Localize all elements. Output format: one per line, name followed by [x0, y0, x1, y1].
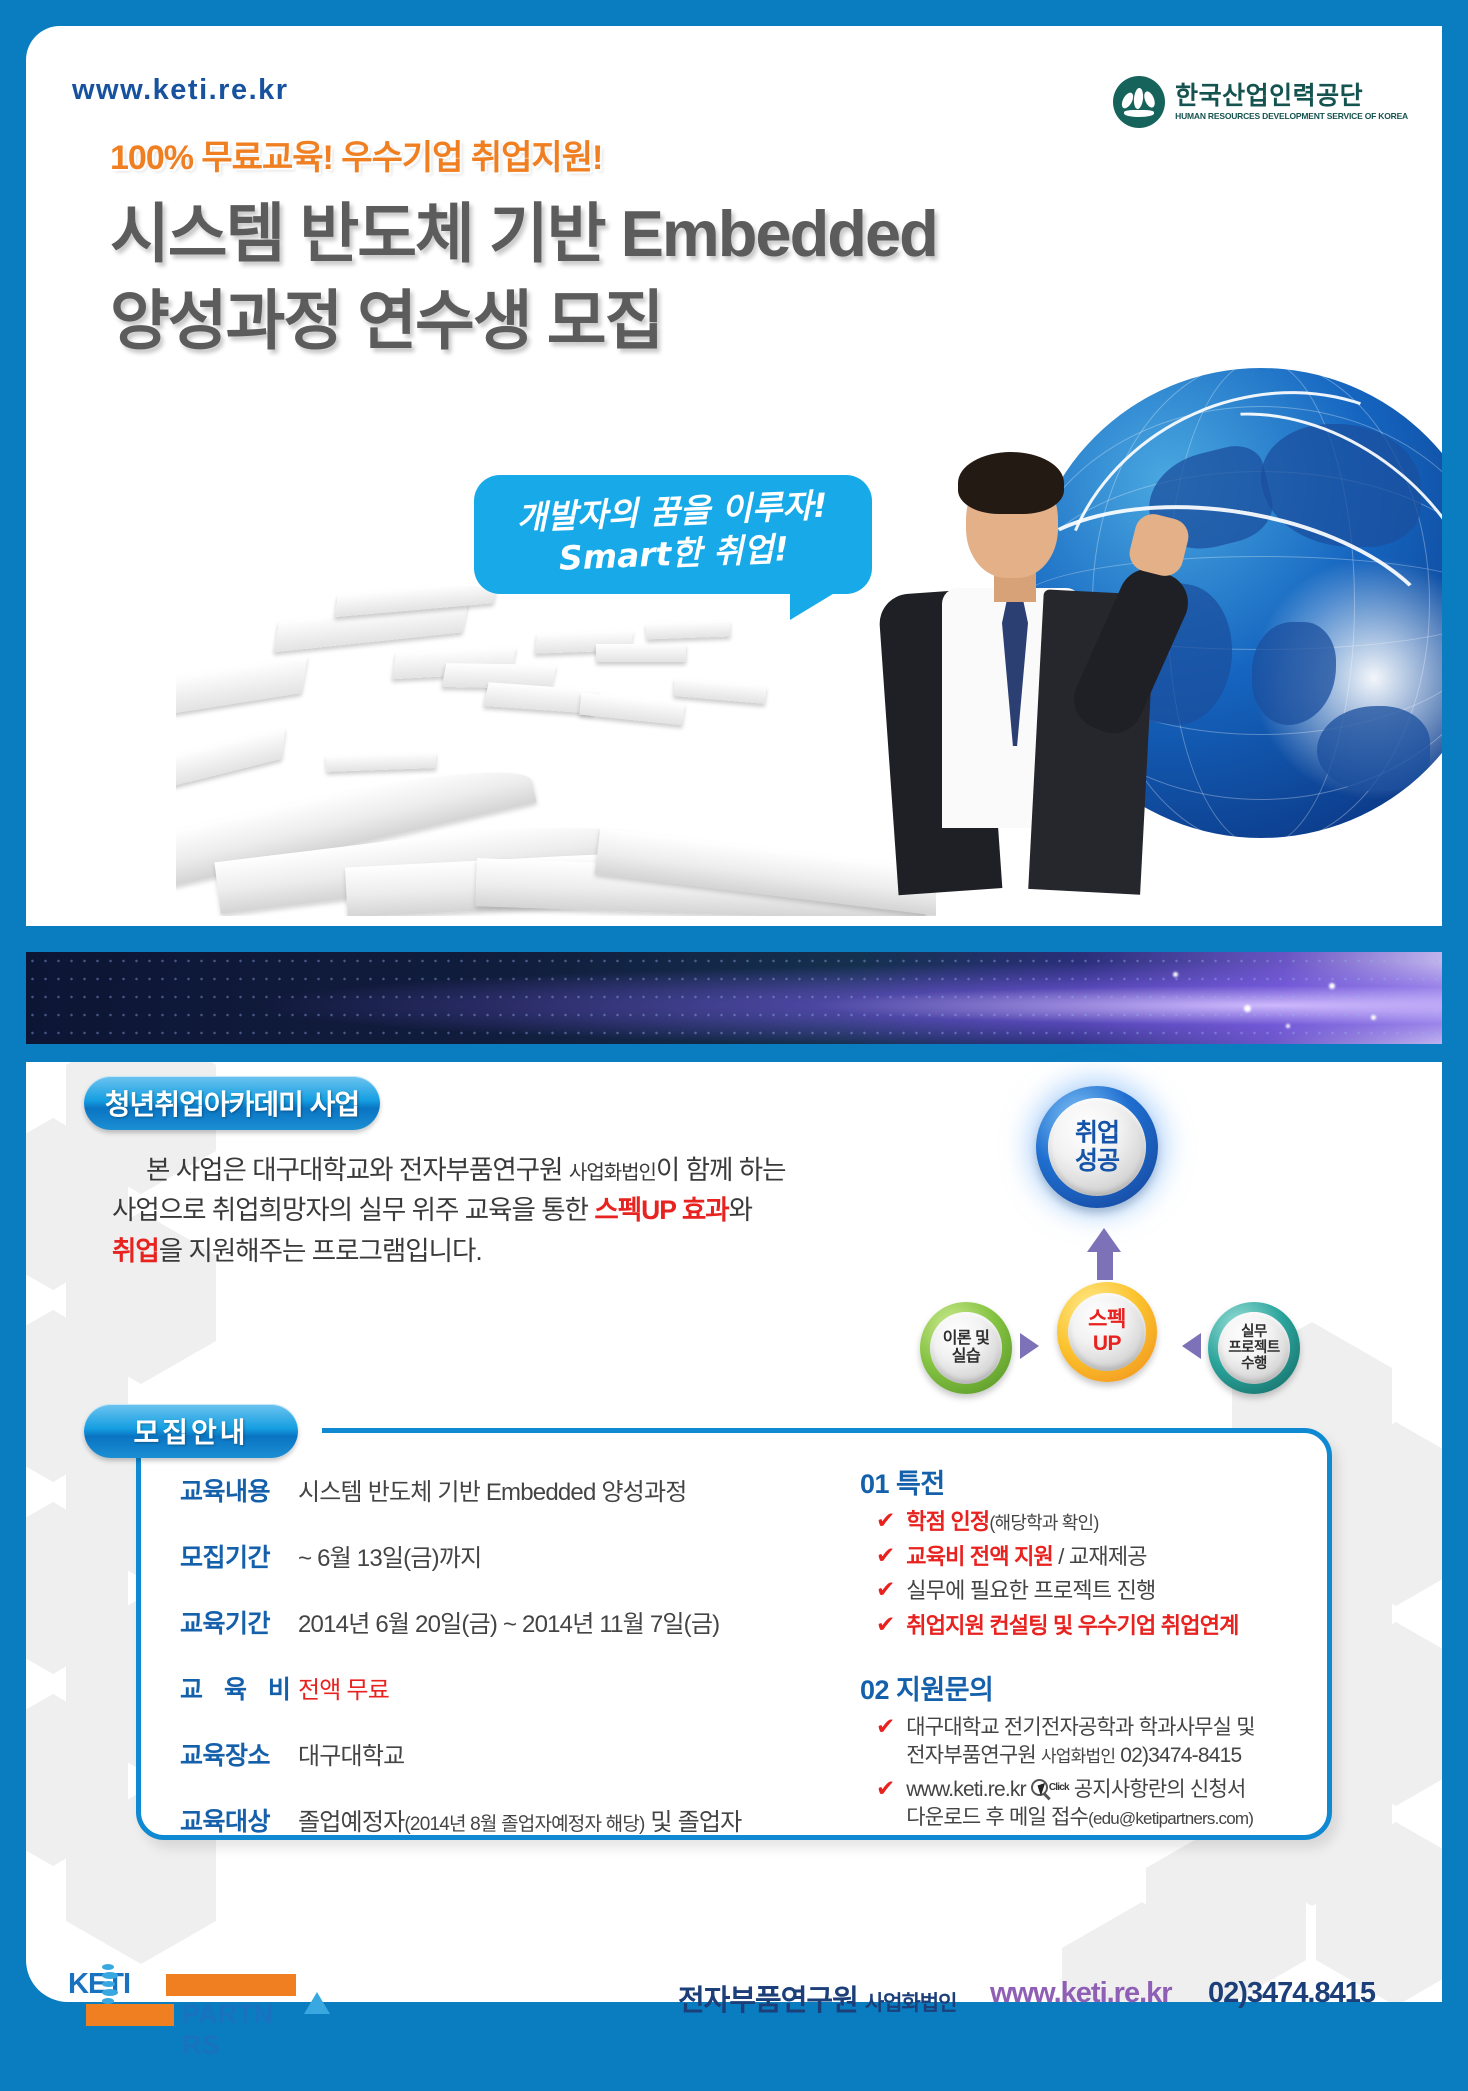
- table-row: 교육대상 졸업예정자(2014년 8월 졸업자예정자 해당) 및 졸업자: [180, 1802, 800, 1838]
- table-row: 교육기간 2014년 6월 20일(금) ~ 2014년 11월 7일(금): [180, 1604, 800, 1640]
- footer-institute: 전자부품연구원 사업화법인: [678, 1977, 956, 2019]
- inquiry-heading: 02 지원문의: [860, 1668, 1320, 1707]
- intro-l2b: 스펙UP 효과: [594, 1195, 728, 1225]
- footer-institute-name: 전자부품연구원: [678, 1985, 865, 2017]
- list-item: ✔ 학점 인정(해당학과 확인): [860, 1508, 1320, 1537]
- list-item: ✔ 대구대학교 전기전자공학과 학과사무실 및 전자부품연구원 사업화법인 02…: [860, 1714, 1320, 1769]
- check-icon: ✔: [876, 1577, 895, 1601]
- inquiry-notice: 공지사항란의 신청서: [1074, 1778, 1246, 1801]
- row-label: 교 육 비: [180, 1670, 298, 1706]
- list-item: ✔ 실무에 필요한 프로젝트 진행: [860, 1577, 1320, 1606]
- benefit-red: 교육비 전액 지원: [906, 1544, 1053, 1569]
- hero-title-line2: 양성과정 연수생 모집: [110, 268, 662, 362]
- arrow-up-icon: [1087, 1228, 1121, 1252]
- inquiry-download: 다운로드 후 메일 접수: [906, 1806, 1088, 1829]
- row-value-main: 졸업예정자: [298, 1809, 404, 1836]
- logo-keti-text: KETI: [68, 1968, 130, 2001]
- click-cursor-icon: Click: [1031, 1779, 1069, 1796]
- inquiry-url[interactable]: www.keti.re.kr: [906, 1778, 1026, 1801]
- hero-card: www.keti.re.kr 한국산업인력공단 HUMAN RESOURCES …: [26, 26, 1442, 926]
- orb-field-project: 실무 프로젝트 수행: [1208, 1302, 1300, 1394]
- benefit-gray: / 교재제공: [1053, 1544, 1147, 1569]
- orb-success-line2: 성공: [1075, 1147, 1119, 1175]
- list-item: ✔ 취업지원 컨설팅 및 우수기업 취업연계: [860, 1612, 1320, 1641]
- arrow-right-icon: [1020, 1333, 1039, 1359]
- arrow-left-icon: [1182, 1333, 1201, 1359]
- table-row: 모집기간 ~ 6월 13일(금)까지: [180, 1538, 800, 1574]
- hrd-logo-korean: 한국산업인력공단: [1175, 84, 1408, 109]
- table-row: 교 육 비 전액 무료: [180, 1670, 800, 1706]
- intro-l1c: 이 함께 하는: [656, 1155, 786, 1185]
- logo-partners-text: PARTN RS: [182, 1999, 298, 2061]
- table-row: 교육내용 시스템 반도체 기반 Embedded 양성과정: [180, 1472, 800, 1508]
- orb-spec-line1: 스펙: [1088, 1308, 1126, 1332]
- benefits-and-inquiry-column: 01 특전 ✔ 학점 인정(해당학과 확인) ✔ 교육비 전액 지원 / 교재제…: [860, 1462, 1320, 1837]
- row-value: 대구대학교: [298, 1736, 404, 1771]
- orb-theory-practice: 이론 및 실습: [920, 1302, 1012, 1394]
- check-icon: ✔: [876, 1508, 895, 1532]
- orb-spec-up: 스펙 UP: [1057, 1282, 1157, 1382]
- intro-l1b: 사업화법인: [569, 1162, 656, 1184]
- check-icon: ✔: [876, 1543, 895, 1567]
- intro-l1a: 본 사업은 대구대학교와 전자부품연구원: [146, 1155, 569, 1185]
- arrow-up-stem: [1097, 1250, 1113, 1280]
- logo-dot-stack-icon: [102, 1964, 120, 2004]
- hero-kicker: 100% 무료교육! 우수기업 취업지원!: [110, 130, 602, 179]
- arrow-paths-graphic: [176, 586, 936, 916]
- benefit-text: 학점 인정(해당학과 확인): [906, 1508, 1098, 1537]
- hero-title-line1: 시스템 반도체 기반 Embedded: [110, 181, 937, 275]
- row-value: 시스템 반도체 기반 Embedded 양성과정: [298, 1472, 687, 1507]
- orb-success-line1: 취업: [1075, 1119, 1119, 1147]
- orb-project-line2: 프로젝트: [1228, 1340, 1279, 1356]
- row-label: 교육내용: [180, 1472, 298, 1508]
- row-value: 2014년 6월 20일(금) ~ 2014년 11월 7일(금): [298, 1604, 719, 1639]
- intro-l2c: 와: [729, 1195, 752, 1225]
- orb-career-success: 취업 성공: [1036, 1086, 1158, 1208]
- benefit-small: (해당학과 확인): [989, 1513, 1098, 1533]
- academy-intro-text: 본 사업은 대구대학교와 전자부품연구원 사업화법인이 함께 하는 사업으로 취…: [112, 1150, 852, 1271]
- banner-dot-texture: [26, 952, 1442, 1044]
- intro-l3a: 취업: [112, 1236, 159, 1266]
- table-row: 교육장소 대구대학교: [180, 1736, 800, 1772]
- row-label: 모집기간: [180, 1538, 298, 1574]
- inquiry-email: (edu@ketipartners.com): [1088, 1809, 1253, 1828]
- benefit-red: 학점 인정: [906, 1509, 989, 1534]
- keti-partners-logo: KETI PARTN RS: [68, 1966, 298, 2028]
- benefit-text: 교육비 전액 지원 / 교재제공: [906, 1543, 1146, 1572]
- spec-up-diagram: 취업 성공 스펙 UP 이론 및 실습 실무 프로젝트 수행: [920, 1086, 1340, 1406]
- row-value: 졸업예정자(2014년 8월 졸업자예정자 해당) 및 졸업자: [298, 1802, 741, 1837]
- orb-spec-line2: UP: [1088, 1332, 1126, 1356]
- orb-theory-line1: 이론 및: [943, 1330, 990, 1348]
- businessman-photo: [846, 446, 1176, 906]
- intro-l3b: 을 지원해주는 프로그램입니다.: [159, 1236, 482, 1266]
- logo-orange-bar-bottom: [86, 2004, 174, 2026]
- section-title-academy: 청년취업아카데미 사업: [84, 1076, 380, 1130]
- benefits-heading: 01 특전: [860, 1462, 1320, 1501]
- benefit-text: 실무에 필요한 프로젝트 진행: [906, 1577, 1155, 1606]
- decorative-banner-strip: [26, 952, 1442, 1044]
- row-value-paren: (2014년 8월 졸업자예정자 해당): [404, 1814, 644, 1835]
- intro-l2a: 사업으로 취업희망자의 실무 위주 교육을 통한: [112, 1195, 594, 1225]
- row-label: 교육기간: [180, 1604, 298, 1640]
- logo-flag-icon: [304, 1992, 330, 2014]
- recruit-detail-rows: 교육내용 시스템 반도체 기반 Embedded 양성과정 모집기간 ~ 6월 …: [180, 1472, 800, 1868]
- inquiry-line1: 대구대학교 전기전자공학과 학과사무실 및: [906, 1716, 1254, 1739]
- speech-bubble: 개발자의 꿈을 이루자! Smart한 취업!: [474, 475, 872, 594]
- list-item: ✔ www.keti.re.kr Click 공지사항란의 신청서 다운로드 후…: [860, 1776, 1320, 1831]
- check-icon: ✔: [876, 1714, 895, 1738]
- row-value: 전액 무료: [298, 1670, 389, 1705]
- row-label: 교육대상: [180, 1802, 298, 1838]
- header-website[interactable]: www.keti.re.kr: [72, 74, 289, 107]
- footer-telephone: 02)3474.8415: [1208, 1977, 1375, 2010]
- row-label: 교육장소: [180, 1736, 298, 1772]
- hrd-emblem-icon: [1113, 76, 1165, 128]
- orb-theory-line2: 실습: [943, 1348, 990, 1366]
- footer-institute-sub: 사업화법인: [865, 1992, 957, 2015]
- hrd-korea-logo: 한국산업인력공단 HUMAN RESOURCES DEVELOPMENT SER…: [1113, 76, 1408, 128]
- logo-orange-bar-top: [166, 1974, 296, 1996]
- inquiry-line2a: 전자부품연구원: [906, 1744, 1041, 1767]
- hrd-logo-english: HUMAN RESOURCES DEVELOPMENT SERVICE OF K…: [1175, 112, 1408, 121]
- orb-project-line3: 수행: [1228, 1356, 1279, 1372]
- check-icon: ✔: [876, 1776, 895, 1800]
- row-value-tail: 및 졸업자: [645, 1809, 742, 1836]
- click-label: Click: [1049, 1781, 1069, 1794]
- orb-project-line1: 실무: [1228, 1324, 1279, 1340]
- benefit-text: 취업지원 컨설팅 및 우수기업 취업연계: [906, 1612, 1238, 1641]
- inquiry-phone: 02)3474-8415: [1115, 1744, 1241, 1767]
- row-value: ~ 6월 13일(금)까지: [298, 1538, 481, 1573]
- inquiry-line2b: 사업화법인: [1041, 1747, 1115, 1766]
- footer-website[interactable]: www.keti.re.kr: [990, 1977, 1172, 2010]
- section-title-recruit: 모집안내: [84, 1404, 298, 1458]
- check-icon: ✔: [876, 1612, 895, 1636]
- list-item: ✔ 교육비 전액 지원 / 교재제공: [860, 1543, 1320, 1572]
